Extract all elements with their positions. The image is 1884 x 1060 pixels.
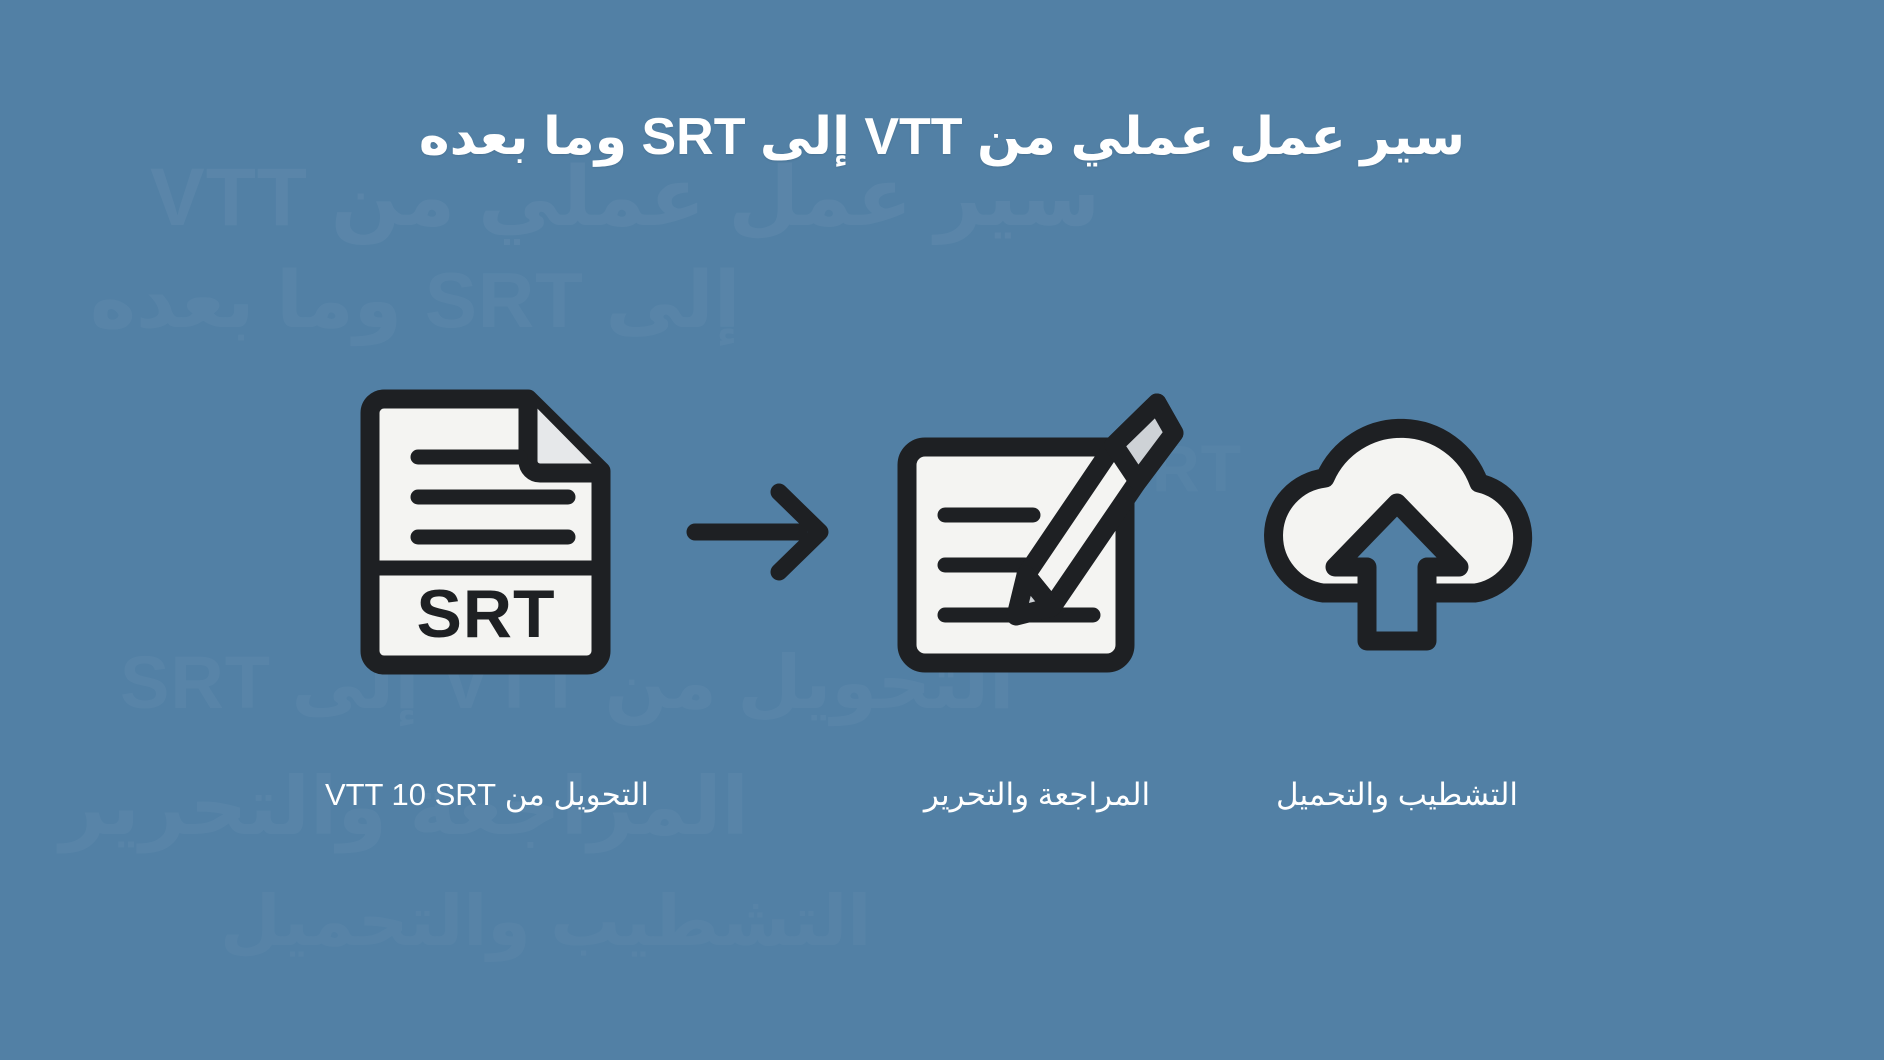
cloud-upload-icon (1247, 395, 1547, 665)
step-1-icon-slot: SRT (307, 380, 667, 680)
srt-file-icon: SRT (360, 385, 615, 675)
step-3-caption: التشطيب والتحميل (1217, 770, 1577, 820)
page-title: سير عمل عملي من VTT إلى SRT وما بعده (0, 108, 1884, 166)
edit-document-pencil-icon (895, 385, 1180, 675)
arrow-right-icon (687, 480, 837, 580)
srt-file-label: SRT (416, 576, 555, 652)
step-2-icon-slot (857, 380, 1217, 680)
step-3-icon-slot (1217, 380, 1577, 680)
infographic-page: سير عمل عملي من VTT إلى SRT وما بعده SRT (0, 0, 1884, 1060)
step-2-caption: المراجعة والتحرير (857, 770, 1217, 820)
workflow-caption-row: التحويل من VTT 10 SRT المراجعة والتحرير … (0, 770, 1884, 820)
step-1-caption: التحويل من VTT 10 SRT (307, 770, 667, 820)
workflow-icon-row: SRT (0, 380, 1884, 680)
flow-connector-slot (667, 380, 857, 680)
